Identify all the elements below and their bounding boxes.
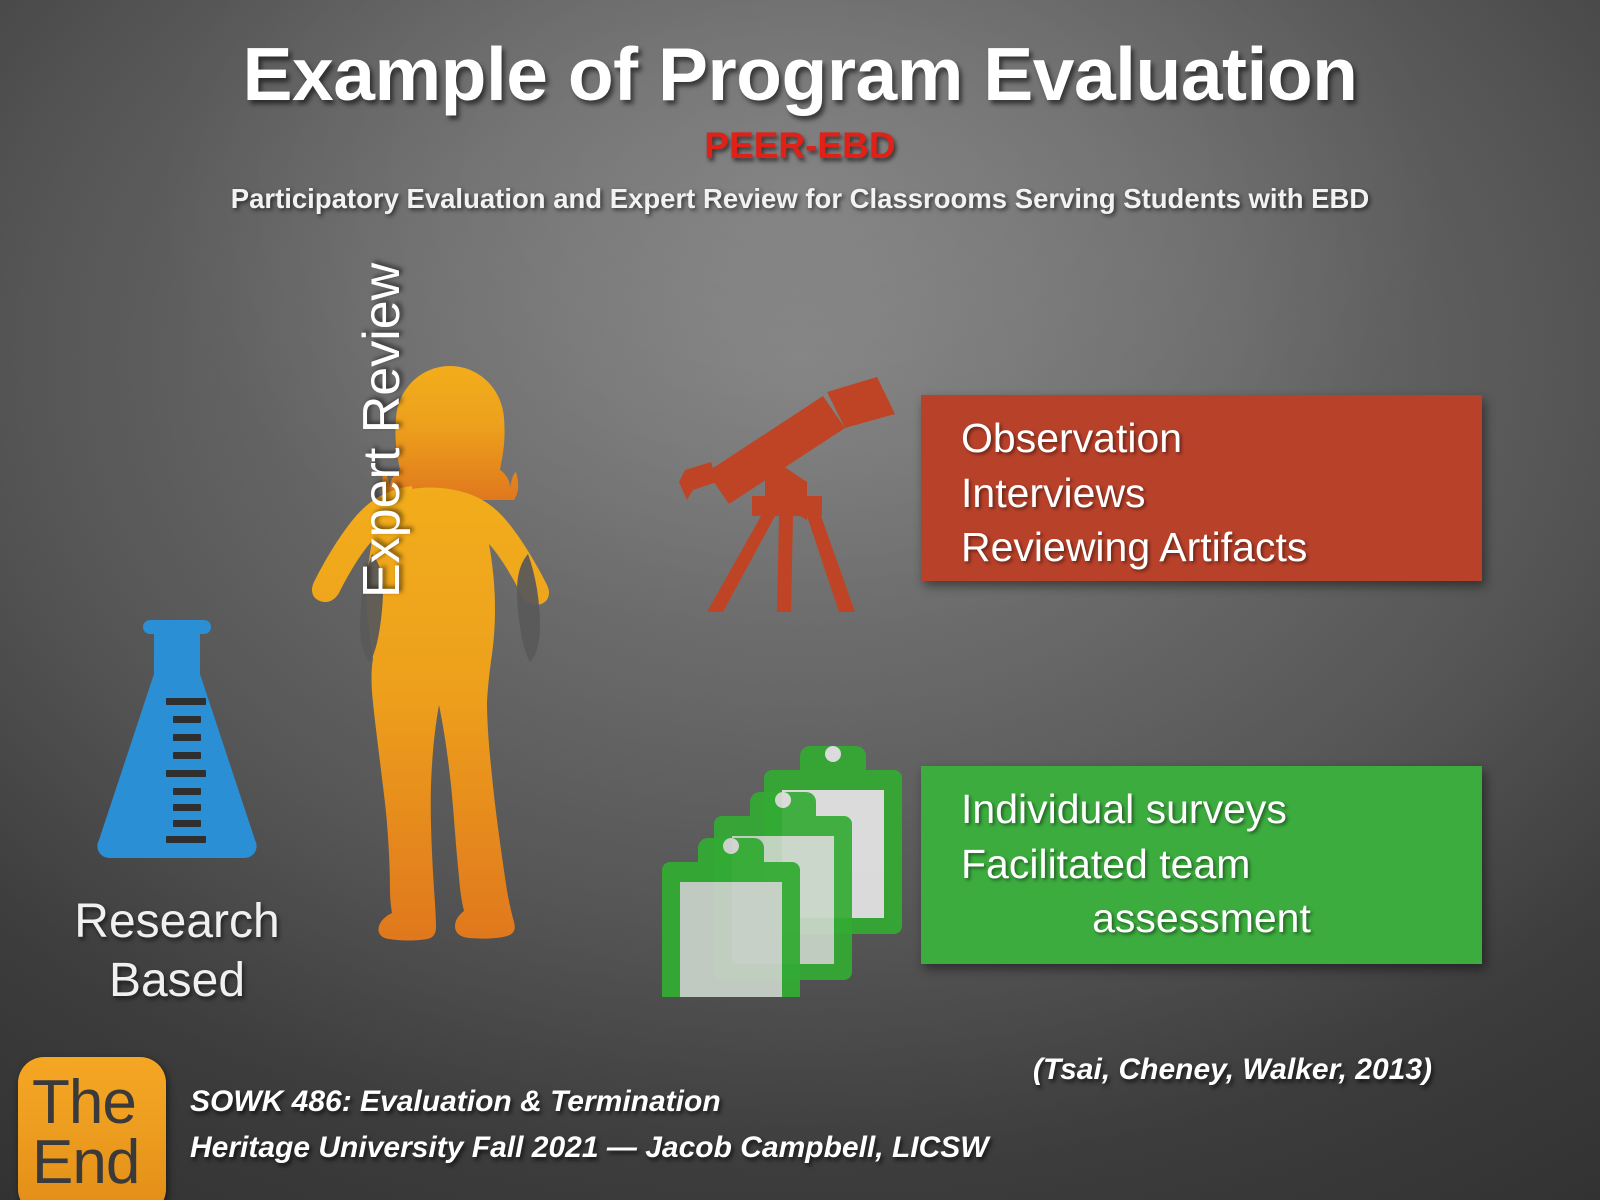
surveys-line-3: assessment — [961, 891, 1482, 946]
surveys-line-1: Individual surveys — [961, 782, 1482, 837]
surveys-methods-box: Individual surveys Facilitated team asse… — [921, 766, 1482, 964]
research-based-label: Research Based — [42, 893, 312, 1010]
the-end-badge-line-2: End — [32, 1133, 139, 1193]
acronym-subtitle: PEER-EBD — [0, 125, 1600, 167]
footer-course-line: SOWK 486: Evaluation & Termination — [190, 1079, 989, 1125]
slide-canvas: Example of Program Evaluation PEER-EBD P… — [0, 0, 1600, 1200]
slide-header: Example of Program Evaluation PEER-EBD P… — [0, 36, 1600, 215]
research-label-line-2: Based — [42, 952, 312, 1011]
page-title: Example of Program Evaluation — [0, 36, 1600, 113]
surveys-line-2: Facilitated team — [961, 837, 1482, 892]
methods-line-3: Reviewing Artifacts — [961, 520, 1482, 575]
person-silhouette-icon — [300, 358, 600, 998]
footer-course-info: SOWK 486: Evaluation & Termination Herit… — [190, 1079, 989, 1170]
telescope-icon — [655, 362, 900, 617]
observation-methods-box: Observation Interviews Reviewing Artifac… — [921, 395, 1482, 581]
the-end-badge-line-1: The — [32, 1073, 139, 1133]
the-end-badge[interactable]: The End — [18, 1057, 166, 1200]
research-based-group: Research Based — [42, 612, 312, 1010]
erlenmeyer-flask-icon — [87, 612, 267, 887]
expanded-subtitle: Participatory Evaluation and Expert Revi… — [0, 183, 1600, 215]
expert-review-label: Expert Review — [352, 263, 412, 598]
methods-line-2: Interviews — [961, 466, 1482, 521]
footer-institution-line: Heritage University Fall 2021 — Jacob Ca… — [190, 1125, 989, 1171]
citation-text: (Tsai, Cheney, Walker, 2013) — [1033, 1053, 1432, 1087]
methods-line-1: Observation — [961, 411, 1482, 466]
research-label-line-1: Research — [42, 893, 312, 952]
clipboards-icon — [624, 722, 914, 997]
the-end-badge-text: The End — [32, 1073, 139, 1192]
